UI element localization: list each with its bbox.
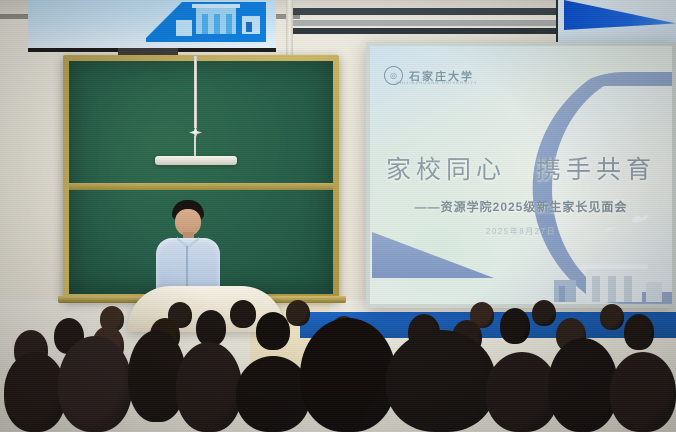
audience-head <box>532 300 556 326</box>
auxiliary-display-left <box>28 0 276 52</box>
audience-head <box>230 300 256 328</box>
slide-date: 2025年8月27日 <box>370 226 672 237</box>
audience-head <box>256 312 290 350</box>
wall-column-divider <box>286 0 293 62</box>
slide-wedge-decoration <box>372 232 494 278</box>
lecture-hall-photo: ◎ 石家庄大学 SHIJIAZHUANG UNIVERSITY 家校同心 携手共… <box>0 0 676 432</box>
traditional-gate-silhouette-icon <box>546 254 664 302</box>
chalkboard-divider <box>69 183 333 190</box>
display-right-wedge-graphic <box>564 0 676 30</box>
university-name-latin: SHIJIAZHUANG UNIVERSITY <box>396 80 478 85</box>
slide-title: 家校同心 携手共育 <box>370 150 672 186</box>
audience-head <box>548 338 618 432</box>
audience-head <box>386 330 496 432</box>
hanging-lamp-pole <box>194 56 197 128</box>
audience-head <box>236 356 310 432</box>
hanging-lamp-fixture <box>155 156 237 165</box>
audience-head <box>300 318 396 432</box>
hanging-lamp-stem <box>194 136 196 158</box>
audience-head <box>58 336 132 432</box>
audience-head <box>4 352 66 432</box>
display-left-stand <box>118 48 178 55</box>
audience-head <box>196 310 226 346</box>
audience-head <box>610 352 676 432</box>
auxiliary-display-right <box>556 0 676 48</box>
audience-head <box>600 304 624 330</box>
audience-head <box>624 314 654 350</box>
audience-head <box>500 308 530 344</box>
campus-gate-graphic-icon <box>146 0 266 42</box>
presenter <box>150 200 226 300</box>
presentation-slide: ◎ 石家庄大学 SHIJIAZHUANG UNIVERSITY 家校同心 携手共… <box>370 46 672 304</box>
audience-head <box>176 342 242 432</box>
audience-head <box>286 300 310 326</box>
slide-subtitle: ——资源学院2025级新生家长见面会 <box>370 198 672 215</box>
projection-screen: ◎ 石家庄大学 SHIJIAZHUANG UNIVERSITY 家校同心 携手共… <box>366 42 676 308</box>
